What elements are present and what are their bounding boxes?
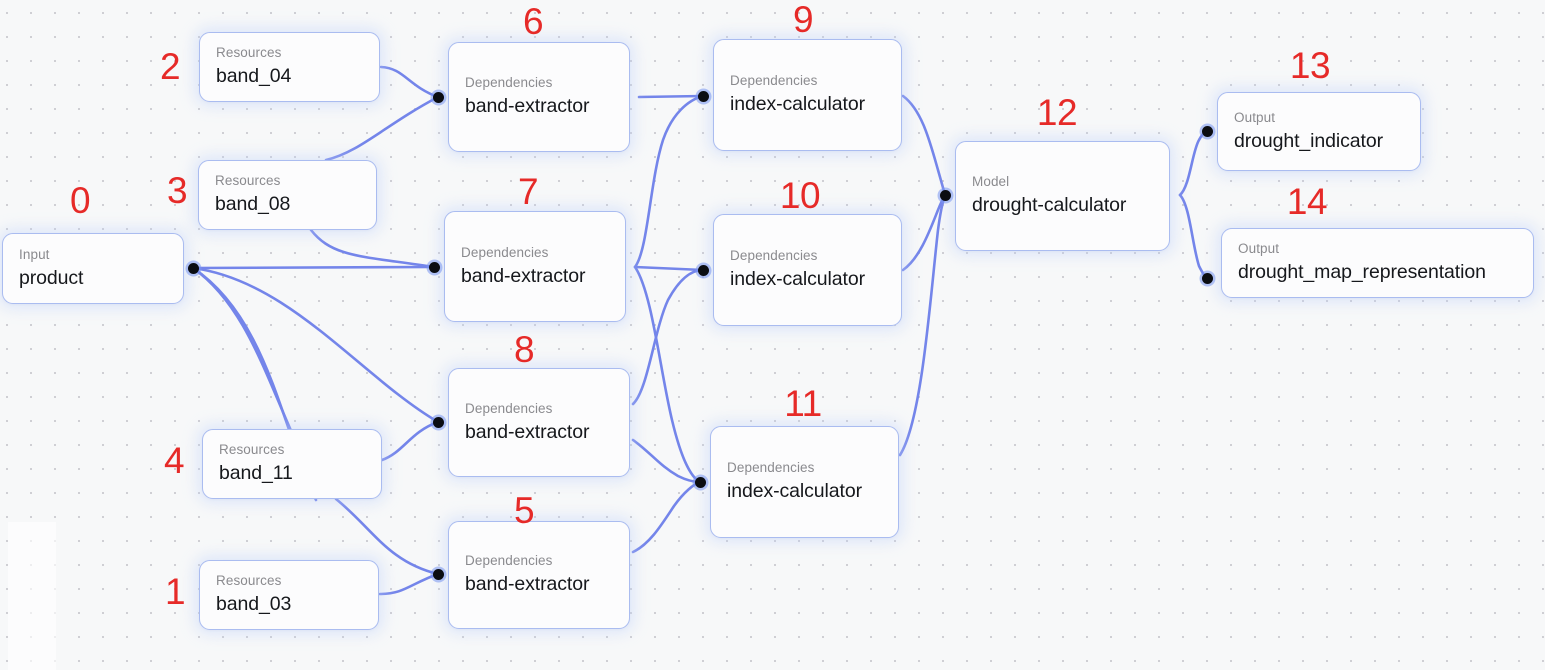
edge-12-to-13 — [1180, 131, 1207, 195]
node-index-12: 12 — [1037, 94, 1077, 131]
node-index-10: 10 — [780, 177, 820, 214]
input-port-index-calculator-10[interactable] — [698, 265, 709, 276]
edge-3-to-6 — [326, 97, 438, 160]
node-kind-label: Input — [19, 247, 167, 264]
node-title: drought_map_representation — [1238, 261, 1517, 284]
edge-7-to-11 — [635, 267, 700, 482]
node-kind-label: Dependencies — [461, 245, 609, 262]
edge-10-to-12 — [903, 195, 945, 270]
node-resources-band-11[interactable]: Resources band_11 — [202, 429, 382, 499]
node-title: band-extractor — [465, 421, 613, 444]
node-kind-label: Resources — [219, 442, 365, 459]
node-dependencies-band-extractor-7[interactable]: Dependencies band-extractor — [444, 211, 626, 322]
node-index-11: 11 — [784, 385, 821, 422]
edge-8-to-11 — [633, 440, 700, 482]
input-port-band-extractor-6[interactable] — [433, 92, 444, 103]
node-title: drought-calculator — [972, 194, 1153, 217]
node-title: band_08 — [215, 193, 360, 216]
node-kind-label: Resources — [215, 173, 360, 190]
node-index-8: 8 — [514, 331, 534, 368]
node-index-3: 3 — [167, 172, 187, 209]
node-dependencies-index-calculator-11[interactable]: Dependencies index-calculator — [710, 426, 899, 538]
node-title: band_04 — [216, 65, 363, 88]
node-kind-label: Dependencies — [465, 401, 613, 418]
node-dependencies-index-calculator-9[interactable]: Dependencies index-calculator — [713, 39, 902, 151]
edge-0-to-7 — [193, 267, 434, 268]
node-kind-label: Resources — [216, 573, 362, 590]
input-port-drought-indicator[interactable] — [1202, 126, 1213, 137]
node-resources-band-08[interactable]: Resources band_08 — [198, 160, 377, 230]
node-index-4: 4 — [164, 442, 184, 479]
node-dependencies-index-calculator-10[interactable]: Dependencies index-calculator — [713, 214, 902, 326]
edge-9-to-12 — [903, 96, 945, 195]
node-dependencies-band-extractor-5[interactable]: Dependencies band-extractor — [448, 521, 630, 629]
node-kind-label: Output — [1238, 241, 1517, 258]
node-dependencies-band-extractor-8[interactable]: Dependencies band-extractor — [448, 368, 630, 477]
edge-11-to-12 — [900, 195, 945, 455]
node-index-0: 0 — [70, 182, 90, 219]
node-title: band_11 — [219, 462, 365, 485]
node-title: product — [19, 267, 167, 290]
node-title: index-calculator — [730, 268, 885, 291]
node-dependencies-band-extractor-6[interactable]: Dependencies band-extractor — [448, 42, 630, 152]
input-port-index-calculator-9[interactable] — [698, 91, 709, 102]
node-title: band-extractor — [465, 573, 613, 596]
node-title: index-calculator — [730, 93, 885, 116]
input-port-index-calculator-11[interactable] — [695, 477, 706, 488]
edge-7-to-10 — [635, 267, 703, 270]
node-title: band_03 — [216, 593, 362, 616]
node-index-2: 2 — [160, 48, 180, 85]
node-title: drought_indicator — [1234, 130, 1404, 153]
node-input-product[interactable]: Input product — [2, 233, 184, 304]
node-kind-label: Output — [1234, 110, 1404, 127]
output-port-product[interactable] — [188, 263, 199, 274]
node-title: index-calculator — [727, 480, 882, 503]
node-index-1: 1 — [165, 573, 185, 610]
input-port-band-extractor-7[interactable] — [429, 262, 440, 273]
input-port-band-extractor-8[interactable] — [433, 417, 444, 428]
node-output-drought-indicator[interactable]: Output drought_indicator — [1217, 92, 1421, 171]
edge-3-to-7 — [311, 230, 434, 267]
node-index-14: 14 — [1287, 183, 1327, 220]
node-kind-label: Dependencies — [730, 248, 885, 265]
node-title: band-extractor — [465, 95, 613, 118]
node-kind-label: Dependencies — [727, 460, 882, 477]
node-index-13: 13 — [1290, 47, 1330, 84]
workflow-canvas[interactable]: Input product 0 Resources band_03 1 Reso… — [0, 0, 1545, 670]
edge-0-to-8 — [193, 268, 438, 422]
node-title: band-extractor — [461, 265, 609, 288]
node-index-6: 6 — [523, 3, 543, 40]
edge-7-to-9 — [635, 96, 703, 267]
input-port-drought-calculator[interactable] — [940, 190, 951, 201]
node-resources-band-03[interactable]: Resources band_03 — [199, 560, 379, 630]
node-kind-label: Model — [972, 174, 1153, 191]
edge-8-to-10 — [633, 270, 703, 404]
node-index-5: 5 — [514, 492, 534, 529]
edge-6-to-9 — [639, 96, 703, 97]
canvas-left-overlay-strip — [8, 522, 56, 670]
node-kind-label: Dependencies — [730, 73, 885, 90]
edge-5-to-11 — [633, 482, 700, 552]
edge-12-to-14 — [1180, 195, 1207, 278]
node-model-drought-calculator[interactable]: Model drought-calculator — [955, 141, 1170, 251]
input-port-drought-map-representation[interactable] — [1202, 273, 1213, 284]
edge-2-to-6 — [381, 67, 438, 97]
node-resources-band-04[interactable]: Resources band_04 — [199, 32, 380, 102]
node-output-drought-map-representation[interactable]: Output drought_map_representation — [1221, 228, 1534, 298]
node-index-9: 9 — [793, 1, 813, 38]
node-kind-label: Dependencies — [465, 553, 613, 570]
node-kind-label: Resources — [216, 45, 363, 62]
edge-4-to-8 — [382, 422, 438, 460]
edge-1-to-5 — [380, 574, 438, 594]
node-kind-label: Dependencies — [465, 75, 613, 92]
input-port-band-extractor-5[interactable] — [433, 569, 444, 580]
node-index-7: 7 — [518, 173, 538, 210]
